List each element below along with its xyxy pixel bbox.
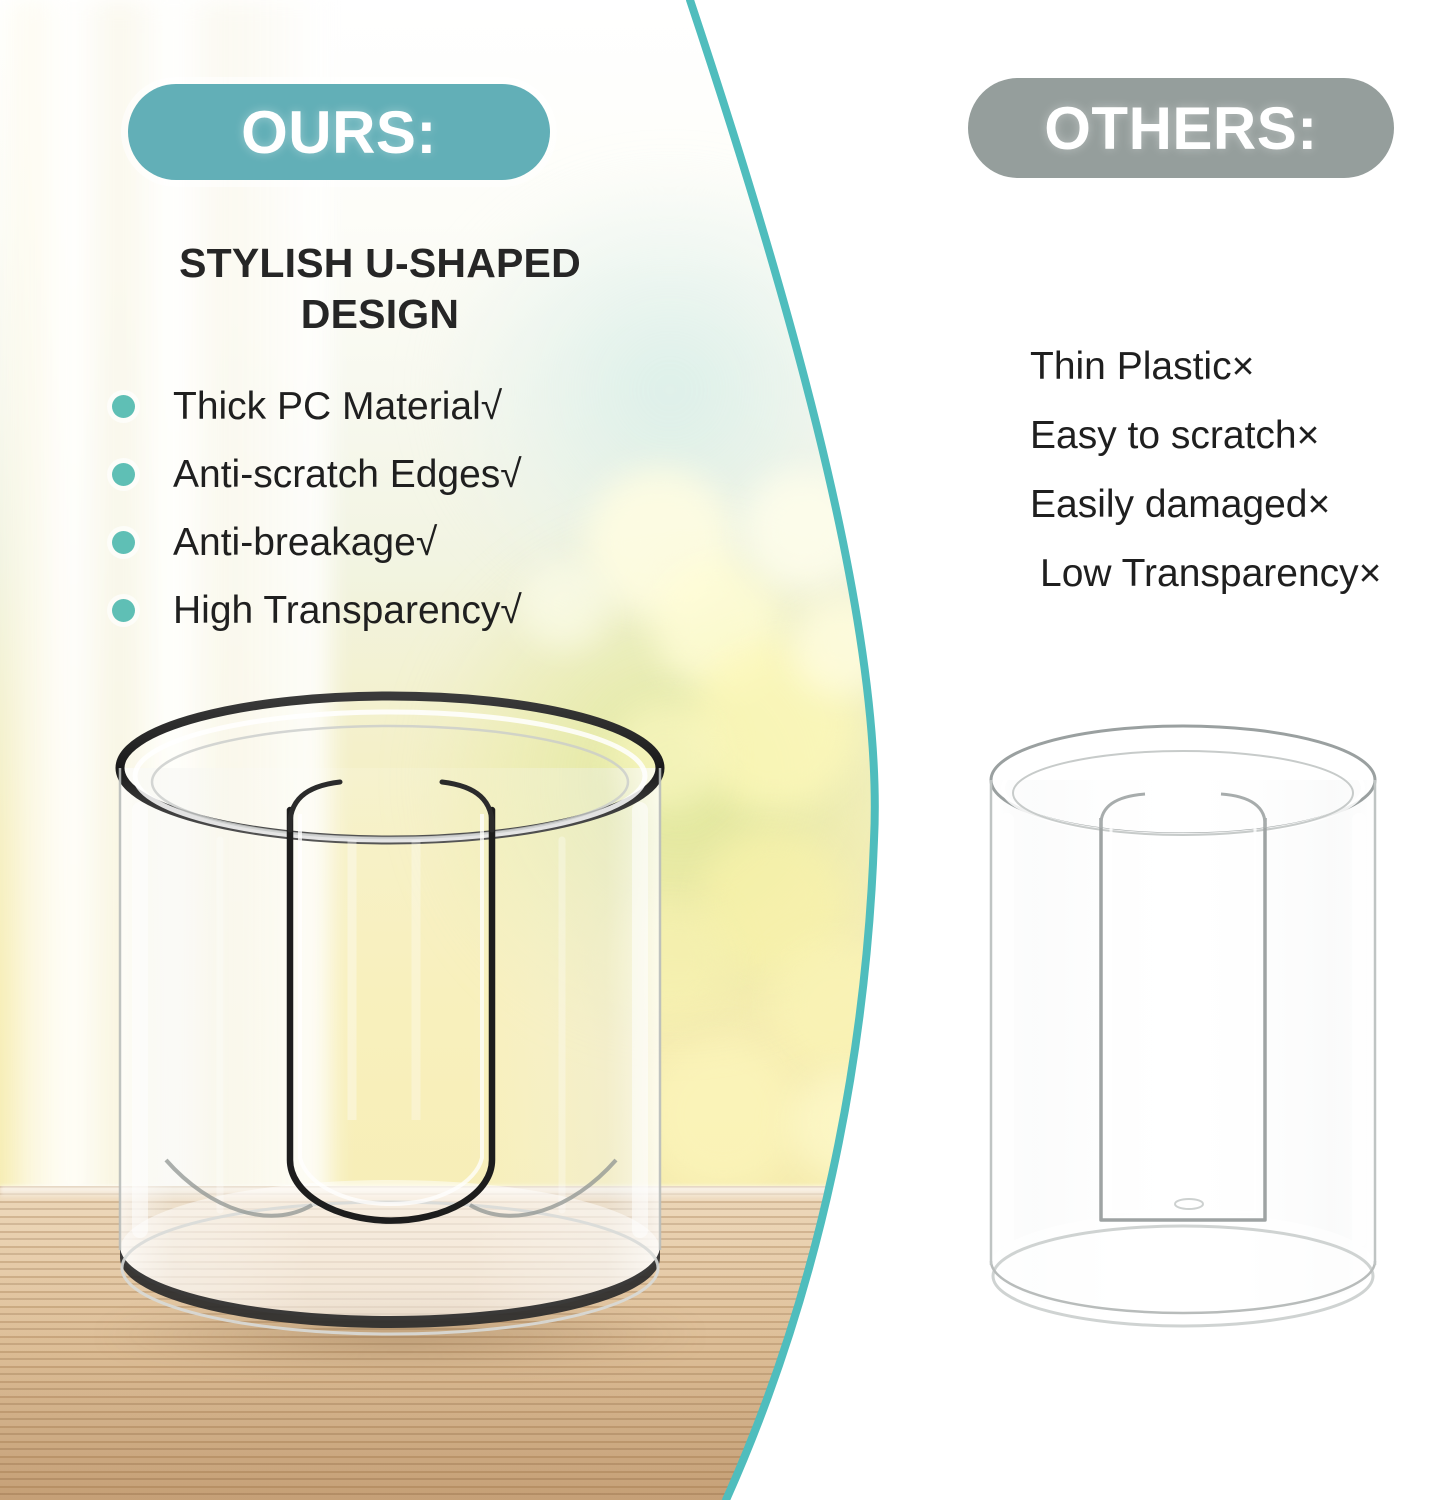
drawback-label: Low Transparency×	[1040, 554, 1381, 593]
bokeh-circle	[790, 1070, 900, 1180]
others-product-image	[975, 720, 1390, 1365]
feature-label: Anti-breakage√	[173, 523, 437, 562]
drawback-label: Easy to scratch×	[1030, 416, 1319, 455]
bullet-dot-icon	[112, 599, 135, 622]
drawback-label: Thin Plastic×	[1030, 347, 1254, 386]
feature-item: Anti-breakage√	[112, 508, 712, 576]
ours-feature-list: Thick PC Material√ Anti-scratch Edges√ A…	[112, 372, 712, 644]
drawback-item: Low Transparency×	[1030, 539, 1430, 608]
feature-item: Thick PC Material√	[112, 372, 712, 440]
bullet-dot-icon	[112, 395, 135, 418]
others-badge: OTHERS:	[968, 78, 1394, 178]
drawback-item: Easily damaged×	[1030, 470, 1430, 539]
feature-label: High Transparency√	[173, 591, 522, 630]
comparison-banner: OURS: OTHERS: STYLISH U-SHAPED DESIGN Th…	[0, 0, 1440, 1500]
feature-item: Anti-scratch Edges√	[112, 440, 712, 508]
ours-badge: OURS:	[128, 84, 550, 180]
drawback-label: Easily damaged×	[1030, 485, 1330, 524]
feature-label: Anti-scratch Edges√	[173, 455, 522, 494]
drawback-item: Easy to scratch×	[1030, 401, 1430, 470]
bullet-dot-icon	[112, 463, 135, 486]
bokeh-circle	[770, 940, 900, 1070]
feature-item: High Transparency√	[112, 576, 712, 644]
bokeh-circle	[742, 470, 862, 590]
bullet-dot-icon	[112, 531, 135, 554]
drawback-item: Thin Plastic×	[1030, 332, 1430, 401]
others-drawback-list: Thin Plastic× Easy to scratch× Easily da…	[1030, 332, 1430, 608]
feature-label: Thick PC Material√	[173, 387, 502, 426]
ours-heading: STYLISH U-SHAPED DESIGN	[100, 238, 660, 340]
bokeh-circle	[790, 596, 890, 696]
ours-product-image	[100, 690, 680, 1380]
